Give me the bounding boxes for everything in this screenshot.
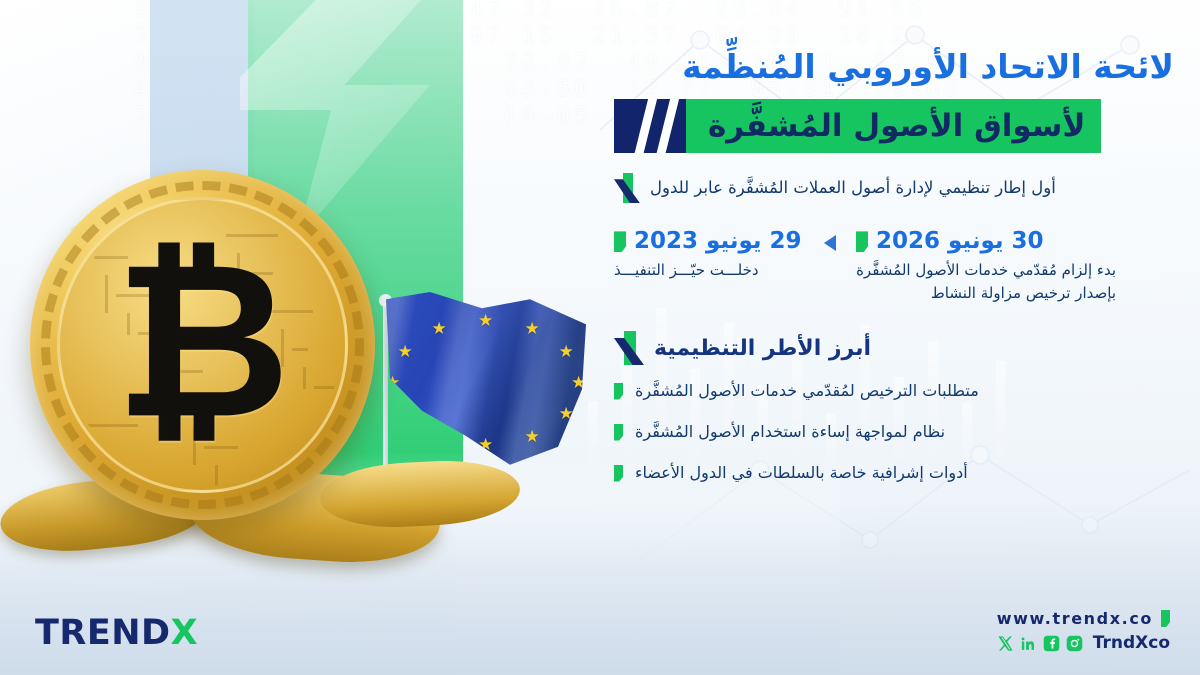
x-twitter-icon[interactable] bbox=[997, 635, 1014, 652]
timeline-row: 30 يونيو 2026 بدء إلزام مُقدّمي خدمات ال… bbox=[614, 229, 1174, 305]
page-title-line1: لائحة الاتحاد الأوروبي المُنظِّمة bbox=[614, 46, 1174, 87]
eu-star-icon: ★ bbox=[432, 321, 447, 338]
timeline-entry-1: 29 يونيو 2023 دخلـــت حيّـــز التنفيـــذ bbox=[614, 229, 804, 282]
content-column: لائحة الاتحاد الأوروبي المُنظِّمة لأسواق… bbox=[614, 46, 1174, 502]
bitcoin-coin-group: ₿ bbox=[30, 170, 390, 540]
eu-star-icon: ★ bbox=[397, 344, 412, 361]
green-flag-marker-icon bbox=[614, 231, 626, 252]
trendx-logo-mark-icon bbox=[614, 173, 640, 203]
green-flag-bullet-icon bbox=[614, 383, 623, 400]
logo-accent-x: X bbox=[171, 613, 199, 653]
list-item: نظام لمواجهة إساءة استخدام الأصول المُشف… bbox=[614, 420, 1174, 444]
website-url[interactable]: www.trendx.co bbox=[997, 609, 1153, 628]
trendx-wordmark-logo: TRENDX bbox=[35, 613, 198, 653]
timeline-entry-2: 30 يونيو 2026 بدء إلزام مُقدّمي خدمات ال… bbox=[856, 229, 1116, 305]
trendx-logo-mark-icon bbox=[614, 331, 644, 365]
frameworks-heading-row: أبرز الأطر التنظيمية bbox=[614, 331, 1174, 365]
timeline-entry-2-description: بدء إلزام مُقدّمي خدمات الأصول المُشفَّر… bbox=[856, 259, 1116, 306]
eu-star-icon: ★ bbox=[478, 313, 493, 330]
trendx-slash-mark-icon bbox=[614, 99, 686, 153]
timeline-entry-2-date: 30 يونيو 2026 bbox=[876, 229, 1044, 254]
timeline-entry-1-description: دخلـــت حيّـــز التنفيـــذ bbox=[614, 259, 759, 282]
website-row[interactable]: www.trendx.co bbox=[997, 609, 1170, 628]
green-flag-marker-icon bbox=[1161, 610, 1170, 627]
framework-item-2-text: نظام لمواجهة إساءة استخدام الأصول المُشف… bbox=[635, 420, 945, 444]
timeline-entry-1-date: 29 يونيو 2023 bbox=[634, 229, 802, 254]
list-item: متطلبات الترخيص لمُقدّمي خدمات الأصول ال… bbox=[614, 379, 1174, 403]
title-banner: لأسواق الأصول المُشفَّرة bbox=[614, 99, 1174, 153]
page-title-line2: لأسواق الأصول المُشفَّرة bbox=[708, 111, 1085, 142]
arrow-left-icon bbox=[824, 235, 836, 251]
title-banner-green: لأسواق الأصول المُشفَّرة bbox=[686, 99, 1101, 153]
facebook-icon[interactable] bbox=[1043, 635, 1060, 652]
eu-star-icon: ★ bbox=[525, 321, 540, 338]
list-item: أدوات إشرافية خاصة بالسلطات في الدول الأ… bbox=[614, 461, 1174, 485]
bitcoin-coin-main: ₿ bbox=[30, 170, 375, 520]
eu-star-icon: ★ bbox=[525, 429, 540, 446]
framework-item-1-text: متطلبات الترخيص لمُقدّمي خدمات الأصول ال… bbox=[635, 379, 979, 403]
logo-text: TREND bbox=[35, 613, 171, 653]
green-flag-bullet-icon bbox=[614, 465, 623, 482]
eu-star-icon: ★ bbox=[559, 344, 574, 361]
linkedin-icon[interactable] bbox=[1020, 635, 1037, 652]
footer-contact: www.trendx.co TrndXco bbox=[997, 609, 1170, 653]
green-flag-marker-icon bbox=[856, 231, 868, 252]
bitcoin-symbol: ₿ bbox=[30, 248, 375, 434]
subtitle-text: أول إطار تنظيمي لإدارة أصول العملات المُ… bbox=[650, 176, 1056, 201]
subtitle-row: أول إطار تنظيمي لإدارة أصول العملات المُ… bbox=[614, 173, 1174, 203]
frameworks-heading: أبرز الأطر التنظيمية bbox=[654, 336, 871, 361]
timeline-entry-2-head: 30 يونيو 2026 bbox=[856, 229, 1044, 254]
social-handle[interactable]: TrndXco bbox=[1093, 633, 1170, 653]
instagram-icon[interactable] bbox=[1066, 635, 1083, 652]
timeline-entry-1-head: 29 يونيو 2023 bbox=[614, 229, 802, 254]
social-row: TrndXco bbox=[997, 633, 1170, 653]
infographic-canvas: 84 12.30 128.06 47.32 76.87 23.04 91.55 … bbox=[0, 0, 1200, 675]
green-flag-bullet-icon bbox=[614, 424, 623, 441]
framework-item-3-text: أدوات إشرافية خاصة بالسلطات في الدول الأ… bbox=[635, 461, 968, 485]
frameworks-list: متطلبات الترخيص لمُقدّمي خدمات الأصول ال… bbox=[614, 379, 1174, 485]
